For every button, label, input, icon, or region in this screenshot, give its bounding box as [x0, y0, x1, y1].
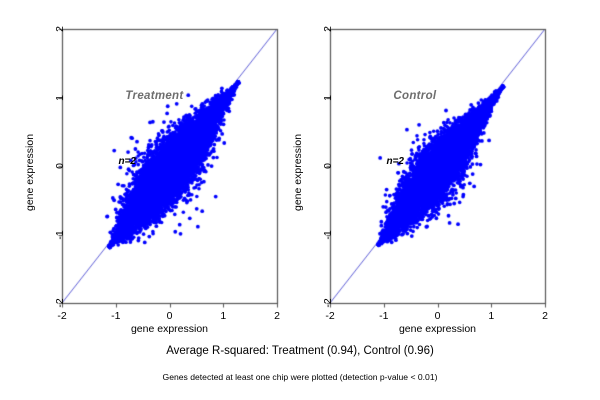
plot-canvas-treatment [0, 0, 300, 340]
y-tick-label: 2 [322, 9, 334, 49]
annotation-n-treatment: n=2 [118, 156, 136, 167]
y-tick-label: -2 [54, 283, 66, 323]
x-tick-label: 1 [203, 310, 243, 322]
y-tick-label: 0 [322, 146, 334, 186]
y-tick-label: 0 [54, 146, 66, 186]
x-axis-title-treatment: gene expression [125, 323, 215, 335]
y-axis-title-control: gene expression [292, 134, 304, 211]
y-tick-label: 1 [54, 78, 66, 118]
annotation-n-control: n=2 [386, 156, 404, 167]
x-axis-title-control: gene expression [393, 323, 483, 335]
panel-treatment: Treatment n=2 gene expression gene expre… [0, 0, 300, 340]
x-tick-label: 2 [525, 310, 565, 322]
x-tick-label: 0 [150, 310, 190, 322]
scatter-figure: Treatment n=2 gene expression gene expre… [0, 0, 600, 400]
panel-tag-control: Control [393, 90, 436, 102]
x-tick-label: -1 [96, 310, 136, 322]
x-tick-label: 1 [471, 310, 511, 322]
panel-control: Control n=2 gene expression gene express… [268, 0, 568, 340]
x-tick-label: 0 [418, 310, 458, 322]
y-tick-label: -1 [54, 215, 66, 255]
x-tick-label: -1 [364, 310, 404, 322]
y-tick-label: -2 [322, 283, 334, 323]
caption-detection-note: Genes detected at least one chip were pl… [0, 372, 600, 382]
y-axis-title-treatment: gene expression [24, 134, 36, 211]
caption-r-squared: Average R-squared: Treatment (0.94), Con… [0, 345, 600, 357]
y-tick-label: -1 [322, 215, 334, 255]
plot-canvas-control [268, 0, 568, 340]
y-tick-label: 2 [54, 9, 66, 49]
y-tick-label: 1 [322, 78, 334, 118]
panel-tag-treatment: Treatment [125, 90, 183, 102]
